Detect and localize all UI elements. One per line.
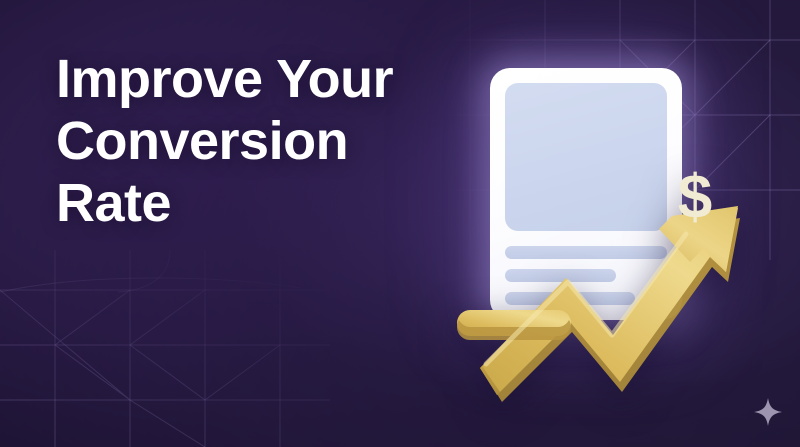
hero-illustration: $ — [440, 20, 780, 420]
page-title: Improve Your Conversion Rate — [56, 48, 476, 234]
dollar-symbol: $ — [678, 163, 712, 232]
growth-arrow: $ — [440, 20, 780, 420]
banner-canvas: Improve Your Conversion Rate — [0, 0, 800, 447]
svg-text:$: $ — [678, 163, 712, 232]
sparkle-icon — [752, 396, 784, 428]
